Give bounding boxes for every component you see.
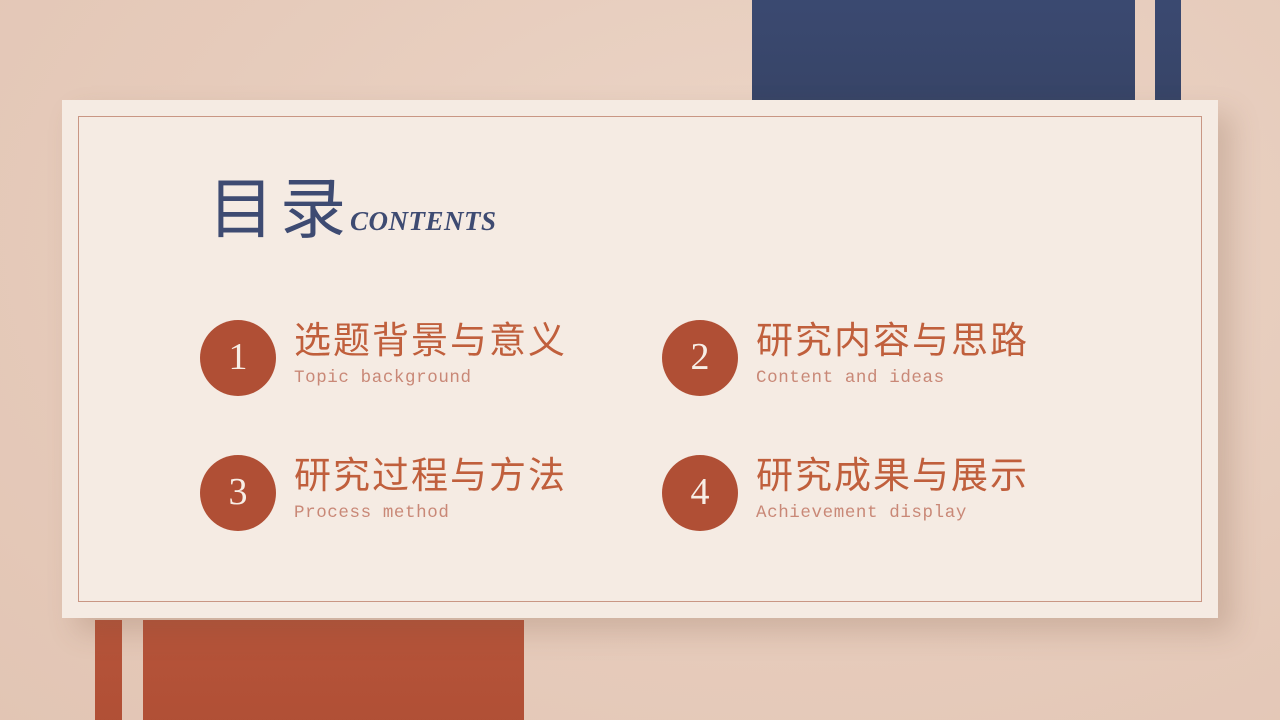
terracotta-block-narrow-decoration [95, 620, 122, 720]
item-title-chinese: 研究成果与展示 [756, 456, 1029, 499]
contents-slide: 目录 CONTENTS 1 选题背景与意义 Topic background 2… [0, 0, 1280, 720]
item-title-english: Achievement display [756, 503, 1029, 523]
page-title-english: CONTENTS [350, 206, 497, 237]
terracotta-block-wide-decoration [143, 620, 524, 720]
item-text-group: 研究过程与方法 Process method [294, 455, 567, 523]
item-title-english: Process method [294, 503, 567, 523]
item-title-english: Topic background [294, 368, 567, 388]
list-item[interactable]: 3 研究过程与方法 Process method [200, 455, 660, 590]
navy-block-narrow-decoration [1155, 0, 1181, 100]
item-number-badge: 4 [662, 455, 738, 531]
list-item[interactable]: 2 研究内容与思路 Content and ideas [662, 320, 1122, 455]
item-number-badge: 3 [200, 455, 276, 531]
item-title-chinese: 研究过程与方法 [294, 456, 567, 499]
item-title-english: Content and ideas [756, 368, 1029, 388]
item-text-group: 研究成果与展示 Achievement display [756, 455, 1029, 523]
item-title-chinese: 研究内容与思路 [756, 321, 1029, 364]
list-item[interactable]: 4 研究成果与展示 Achievement display [662, 455, 1122, 590]
contents-list: 1 选题背景与意义 Topic background 2 研究内容与思路 Con… [200, 320, 1140, 590]
item-text-group: 选题背景与意义 Topic background [294, 320, 567, 388]
list-item[interactable]: 1 选题背景与意义 Topic background [200, 320, 660, 455]
page-title: 目录 CONTENTS [208, 178, 497, 244]
item-title-chinese: 选题背景与意义 [294, 321, 567, 364]
item-number-badge: 2 [662, 320, 738, 396]
item-text-group: 研究内容与思路 Content and ideas [756, 320, 1029, 388]
page-title-chinese: 目录 [208, 178, 352, 244]
item-number-badge: 1 [200, 320, 276, 396]
navy-block-wide-decoration [752, 0, 1135, 100]
